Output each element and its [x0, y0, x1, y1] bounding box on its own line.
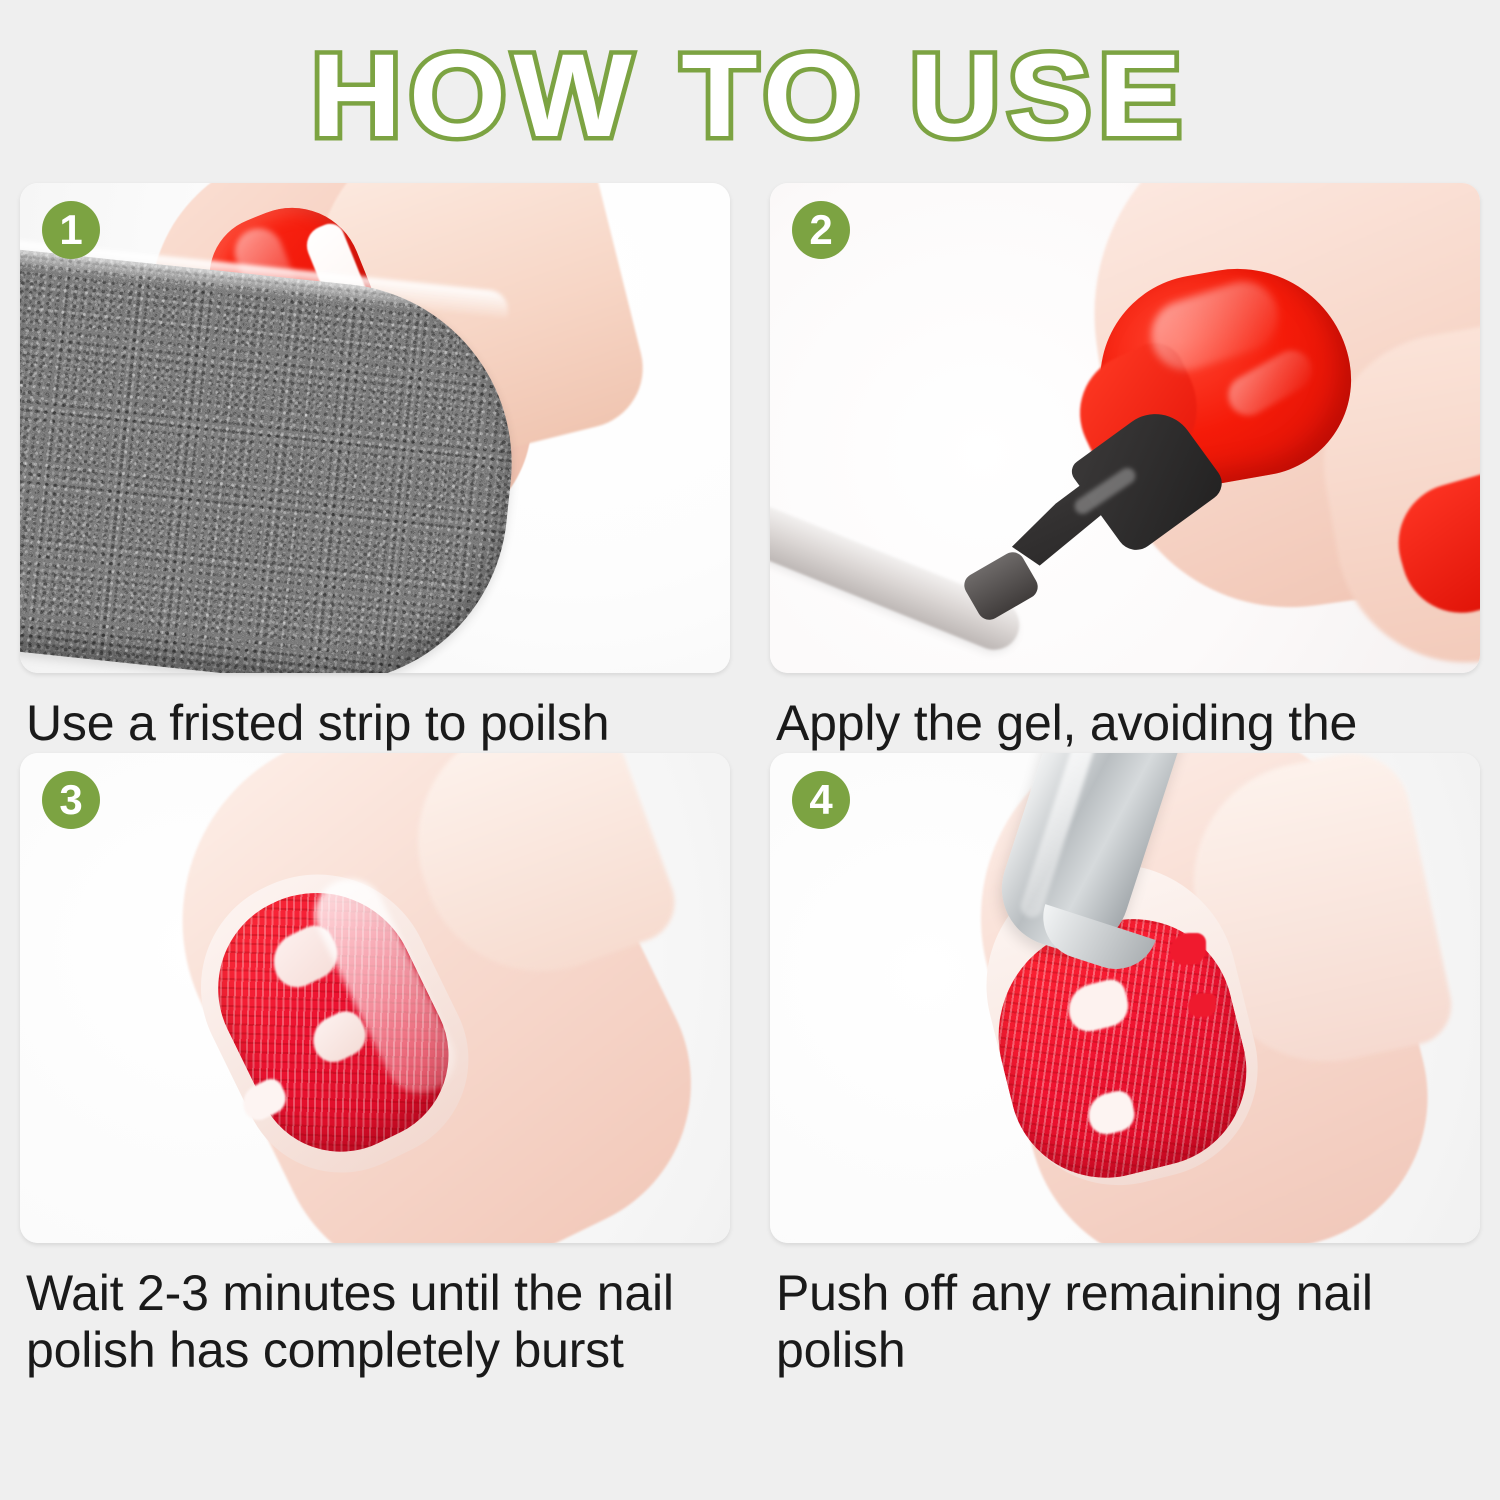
polish-flake-a	[1170, 933, 1206, 965]
page-title: HOW TO USE	[311, 34, 1189, 159]
step-image-2: 2	[770, 183, 1480, 673]
step-badge-4: 4	[792, 771, 850, 829]
how-to-use-infographic: HOW TO USE 1 Use a fristed strip to p	[0, 0, 1500, 1500]
page-title-container: HOW TO USE	[0, 34, 1500, 164]
step-badge-3: 3	[42, 771, 100, 829]
step-badge-1: 1	[42, 201, 100, 259]
step-illustration-4	[770, 753, 1480, 1243]
step-caption-3: Wait 2-3 minutes until the nail polish h…	[26, 1265, 726, 1379]
step-image-4: 4	[770, 753, 1480, 1243]
steps-grid: 1 Use a fristed strip to poilsh the nail…	[20, 183, 1480, 1483]
step-card-3: 3 Wait 2-3 minutes until the nail polish…	[20, 753, 730, 1283]
step-illustration-1	[20, 183, 730, 673]
step-image-3: 3	[20, 753, 730, 1243]
step-image-1: 1	[20, 183, 730, 673]
step-illustration-3	[20, 753, 730, 1243]
step-illustration-2	[770, 183, 1480, 673]
step-card-2: 2 Apply the gel, avoiding the surroundin…	[770, 183, 1480, 713]
polish-flake-b	[1188, 993, 1216, 1017]
step-card-4: 4 Push off any remaining nail polish	[770, 753, 1480, 1283]
step-caption-4: Push off any remaining nail polish	[776, 1265, 1476, 1379]
step-card-1: 1 Use a fristed strip to poilsh the nail…	[20, 183, 730, 713]
step-badge-2: 2	[792, 201, 850, 259]
